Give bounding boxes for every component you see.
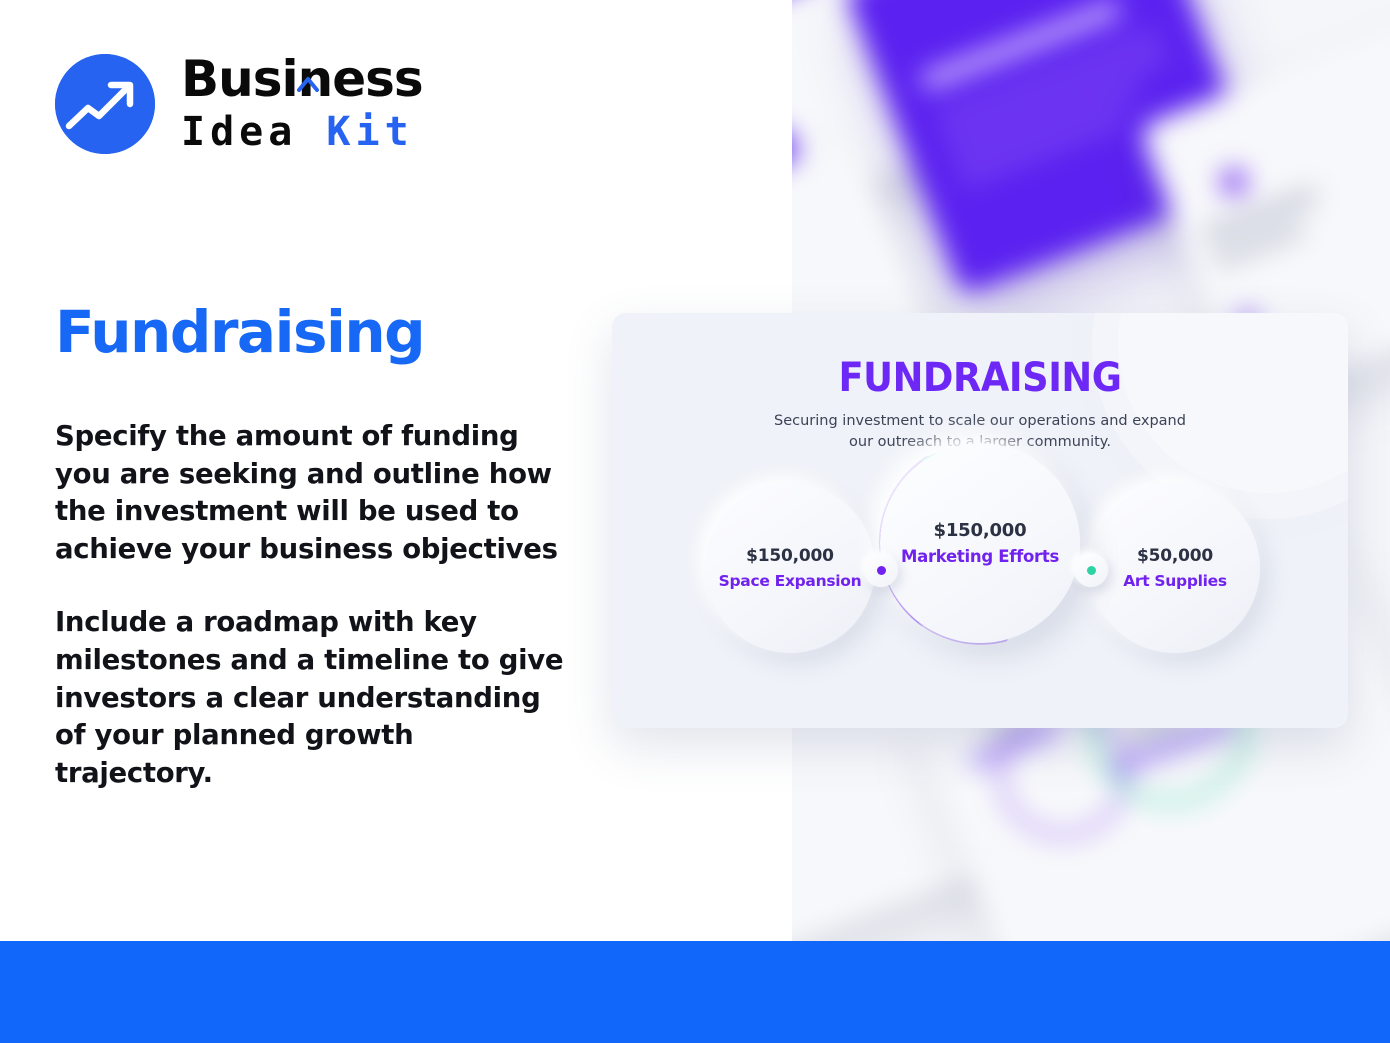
connector-node-right bbox=[1074, 553, 1108, 587]
body-paragraph-2: Include a roadmap with key milestones an… bbox=[55, 604, 565, 792]
funding-amount: $50,000 bbox=[1137, 546, 1213, 566]
funding-label: Art Supplies bbox=[1123, 572, 1227, 590]
brand-name-line2: Idea Kit bbox=[181, 108, 481, 156]
funding-label: Marketing Efforts bbox=[901, 547, 1059, 566]
funding-item-left[interactable]: $150,000 Space Expansion bbox=[705, 483, 875, 653]
growth-arrow-circle-icon bbox=[55, 54, 155, 154]
funding-item-right[interactable]: $50,000 Art Supplies bbox=[1090, 483, 1260, 653]
brand-name-line1: Business bbox=[181, 50, 481, 108]
brand-logo[interactable]: Business Idea Kit bbox=[55, 50, 485, 162]
funding-breakdown-diagram: $150,000 Space Expansion $150,000 Market… bbox=[612, 465, 1348, 695]
brand-wordmark: Business Idea Kit bbox=[181, 50, 481, 156]
brand-idea-text: Idea bbox=[181, 109, 326, 155]
funding-amount: $150,000 bbox=[746, 546, 834, 566]
circumflex-accent-icon bbox=[297, 46, 319, 62]
funding-item-center[interactable]: $150,000 Marketing Efforts bbox=[880, 443, 1080, 643]
slide-preview-card[interactable]: FUNDRAISING Securing investment to scale… bbox=[612, 313, 1348, 728]
body-copy: Specify the amount of funding you are se… bbox=[55, 418, 565, 792]
connector-node-left bbox=[864, 553, 898, 587]
slide-title: FUNDRAISING bbox=[641, 355, 1318, 401]
funding-amount: $150,000 bbox=[934, 520, 1027, 541]
body-paragraph-1: Specify the amount of funding you are se… bbox=[55, 418, 565, 568]
funding-label: Space Expansion bbox=[719, 572, 862, 590]
page-title: Fundraising bbox=[55, 296, 424, 368]
slide-page: Business Idea Kit Fundraising Specify th… bbox=[0, 0, 1390, 1043]
brand-kit-text: Kit bbox=[326, 109, 413, 155]
footer-band bbox=[0, 941, 1390, 1043]
